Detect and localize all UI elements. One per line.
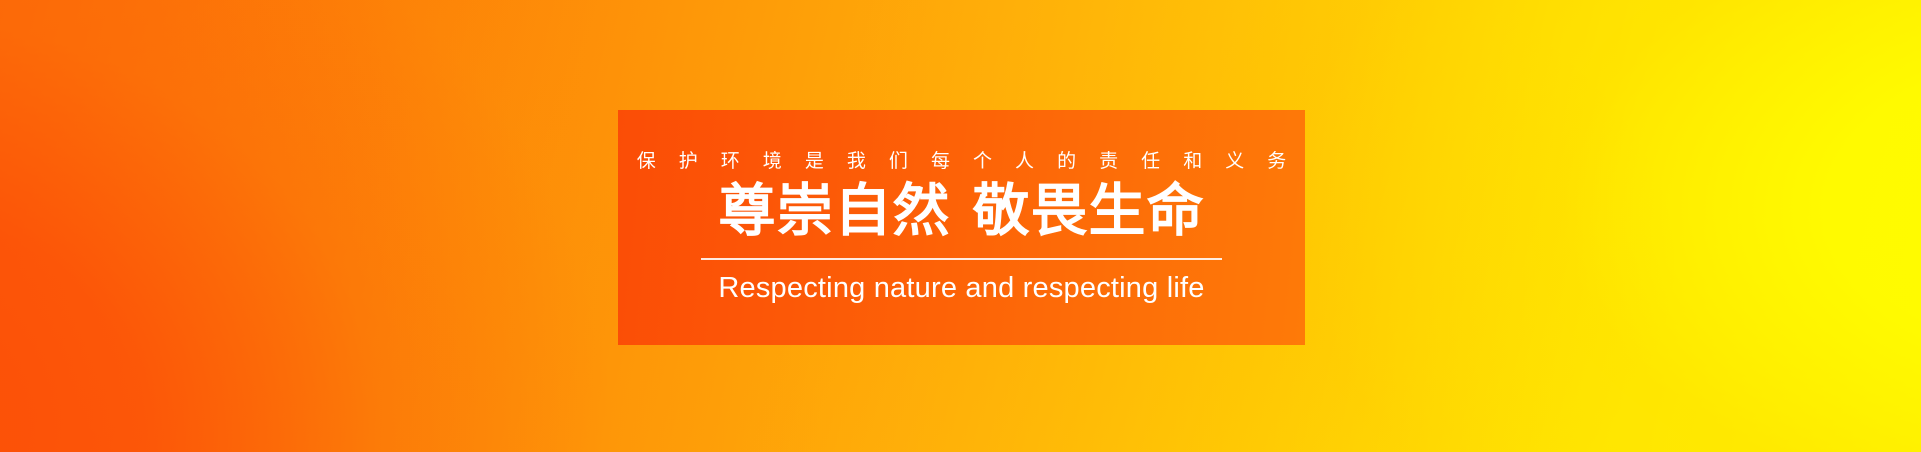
message-panel: 保 护 环 境 是 我 们 每 个 人 的 责 任 和 义 务 尊崇自然敬畏生命… <box>618 110 1305 345</box>
headline-part-one: 尊崇自然 <box>719 178 951 244</box>
divider-rule <box>701 258 1222 260</box>
headline: 尊崇自然敬畏生命 <box>719 181 1205 243</box>
environmental-banner: 保 护 环 境 是 我 们 每 个 人 的 责 任 和 义 务 尊崇自然敬畏生命… <box>0 0 1921 452</box>
headline-part-two: 敬畏生命 <box>973 178 1205 244</box>
tagline-text: 保 护 环 境 是 我 们 每 个 人 的 责 任 和 义 务 <box>628 152 1295 171</box>
subtitle-text: Respecting nature and respecting life <box>718 274 1204 303</box>
